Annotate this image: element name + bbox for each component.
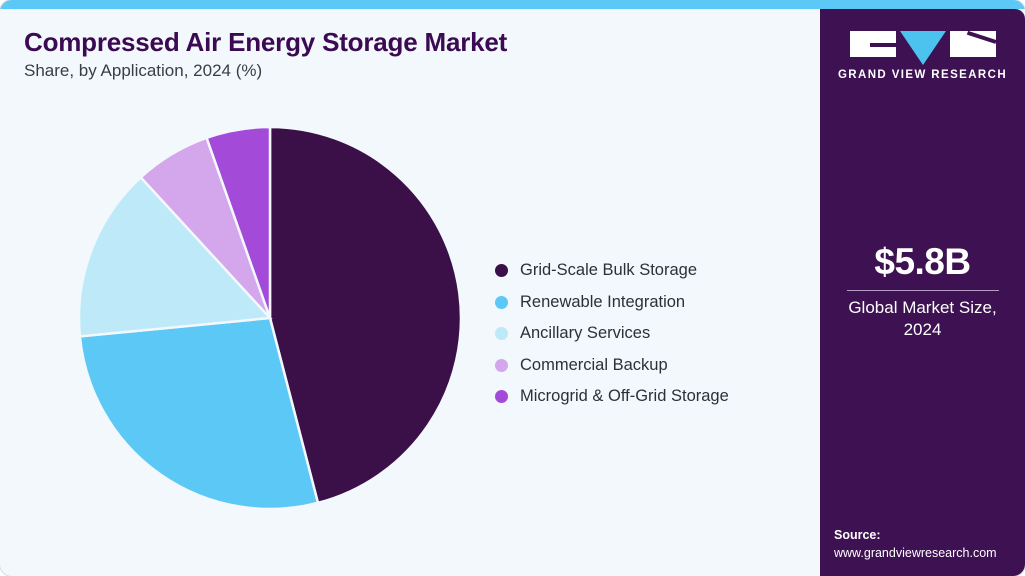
side-panel: GRAND VIEW RESEARCH $5.8B Global Market …: [820, 9, 1025, 576]
legend-item[interactable]: Commercial Backup: [495, 350, 729, 382]
legend-color-swatch-icon: [495, 264, 508, 277]
legend-item-label: Microgrid & Off-Grid Storage: [520, 387, 729, 406]
logo-r-icon: [950, 31, 996, 57]
top-accent-bar: [0, 0, 1025, 9]
logo-v-triangle-icon: [900, 31, 946, 65]
page-title: Compressed Air Energy Storage Market: [24, 27, 507, 58]
legend-item-label: Grid-Scale Bulk Storage: [520, 261, 697, 280]
source-footer: Source: www.grandviewresearch.com: [834, 526, 997, 562]
legend-color-swatch-icon: [495, 359, 508, 372]
infographic-card: Compressed Air Energy Storage Market Sha…: [0, 0, 1025, 576]
pie-chart: [78, 126, 462, 510]
legend-item[interactable]: Microgrid & Off-Grid Storage: [495, 381, 729, 413]
legend-item-label: Commercial Backup: [520, 356, 668, 375]
legend-item-label: Ancillary Services: [520, 324, 650, 343]
page-subtitle: Share, by Application, 2024 (%): [24, 61, 262, 81]
logo-marks: [820, 31, 1025, 61]
legend-color-swatch-icon: [495, 327, 508, 340]
logo-wordmark: GRAND VIEW RESEARCH: [820, 69, 1025, 81]
pie-chart-svg: [78, 126, 462, 510]
legend-color-swatch-icon: [495, 390, 508, 403]
stat-divider: [847, 290, 999, 291]
market-size-value: $5.8B: [820, 241, 1025, 283]
legend-item[interactable]: Grid-Scale Bulk Storage: [495, 255, 729, 287]
source-label: Source:: [834, 526, 997, 544]
market-size-caption: Global Market Size, 2024: [820, 297, 1025, 341]
legend-color-swatch-icon: [495, 296, 508, 309]
logo-g-icon: [850, 31, 896, 57]
chart-legend: Grid-Scale Bulk StorageRenewable Integra…: [495, 255, 729, 413]
chart-main-area: Compressed Air Energy Storage Market Sha…: [0, 9, 820, 576]
market-size-stat: $5.8B Global Market Size, 2024: [820, 241, 1025, 341]
brand-logo: GRAND VIEW RESEARCH: [820, 31, 1025, 81]
legend-item[interactable]: Renewable Integration: [495, 287, 729, 319]
source-url: www.grandviewresearch.com: [834, 544, 997, 562]
legend-item-label: Renewable Integration: [520, 293, 685, 312]
legend-item[interactable]: Ancillary Services: [495, 318, 729, 350]
